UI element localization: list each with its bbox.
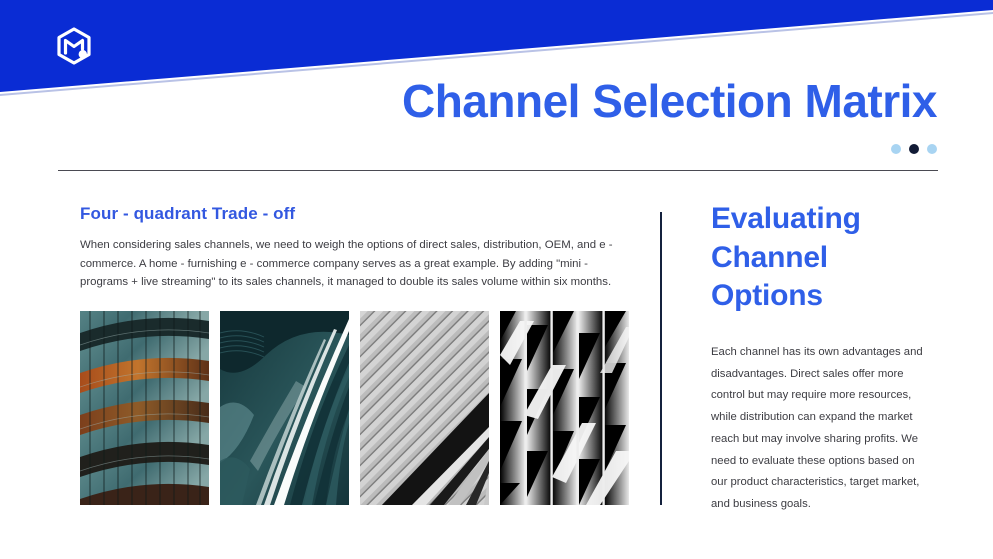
right-content-column: Evaluating Channel Options Each channel … — [711, 200, 929, 516]
pagination-dots[interactable] — [891, 144, 937, 154]
photo-curved-office-facade — [80, 311, 209, 505]
pagination-dot-3[interactable] — [927, 144, 937, 154]
column-divider — [660, 212, 662, 505]
photo-strip — [80, 311, 629, 505]
right-paragraph: Each channel has its own advantages and … — [711, 342, 929, 516]
hexagon-m-logo-icon — [52, 25, 96, 69]
photo-teal-curved-architecture — [220, 311, 349, 505]
left-paragraph: When considering sales channels, we need… — [80, 236, 632, 292]
right-heading: Evaluating Channel Options — [711, 200, 929, 316]
left-subheading: Four - quadrant Trade - off — [80, 204, 636, 224]
photo-diagonal-ribbed-cladding — [360, 311, 489, 505]
pagination-dot-1[interactable] — [891, 144, 901, 154]
pagination-dot-2[interactable] — [909, 144, 919, 154]
header-divider — [58, 170, 938, 171]
slide-canvas: Channel Selection Matrix Four - quadrant… — [0, 0, 993, 559]
photo-black-white-fin-grid — [500, 311, 629, 505]
left-content-column: Four - quadrant Trade - off When conside… — [80, 204, 636, 292]
page-title: Channel Selection Matrix — [402, 78, 937, 124]
